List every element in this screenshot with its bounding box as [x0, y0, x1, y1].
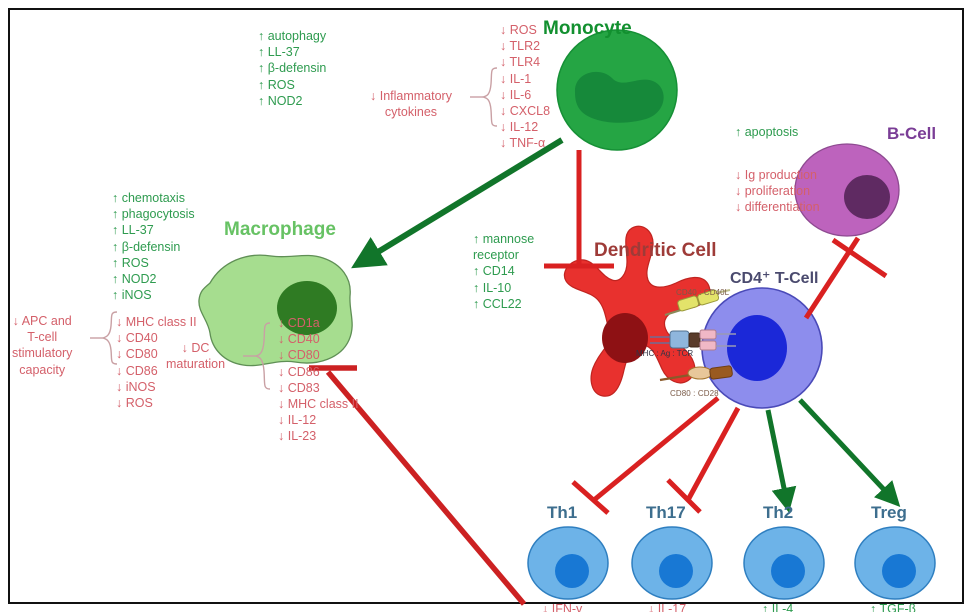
bcell-effects-down: ↓ Ig production ↓ proliferation ↓ differ… [735, 167, 820, 216]
bracket-macrophage-apc [103, 312, 117, 364]
bcell-title: B-Cell [887, 124, 936, 144]
dendritic-effect-mhc2: ↓ MHC class II [278, 396, 359, 412]
subset-th1-title: Th1 [547, 503, 577, 523]
monocyte-cell [557, 30, 677, 150]
dendritic-effect-cd80: ↓ CD80 [278, 347, 359, 363]
bcell-effect-ig-production: ↓ Ig production [735, 167, 820, 183]
subset-treg-cytokine: ↑ TGF-β [870, 601, 916, 612]
dendritic-effect-cd86: ↓ CD86 [278, 364, 359, 380]
subset-th17-title: Th17 [646, 503, 686, 523]
dendritic-effect-cd83: ↓ CD83 [278, 380, 359, 396]
dendritic-effect-cd1a: ↓ CD1a [278, 315, 359, 331]
subset-th17-cell [632, 527, 712, 599]
dendritic-effect-ccl22: ↑ CCL22 [473, 296, 534, 312]
monocyte-effect-il1: ↓ IL-1 [500, 71, 550, 87]
monocyte-effect-nod2: ↑ NOD2 [258, 93, 326, 109]
monocyte-effects-right: ↓ ROS ↓ TLR2 ↓ TLR4 ↓ IL-1 ↓ IL-6 ↓ CXCL… [500, 22, 550, 152]
synapse-label-cd40-cd40l: CD40 : CD40L [676, 288, 729, 297]
macrophage-effect-ros-dn: ↓ ROS [116, 395, 197, 411]
monocyte-effect-tlr2: ↓ TLR2 [500, 38, 550, 54]
dendritic-effect-cd14: ↑ CD14 [473, 263, 534, 279]
subset-th2-cell [744, 527, 824, 599]
macrophage-effect-inos: ↑ iNOS [112, 287, 195, 303]
monocyte-effect-il12: ↓ IL-12 [500, 119, 550, 135]
dendritic-effect-mannose: ↑ mannose [473, 231, 534, 247]
subset-treg-cell [855, 527, 935, 599]
bcell-effects-up: ↑ apoptosis [735, 124, 798, 140]
synapse-label-mhc-ag-tcr: MHC : Ag : TCR [636, 349, 693, 358]
dendritic-group-label: ↓ DC maturation [166, 340, 225, 372]
monocyte-effect-tlr4: ↓ TLR4 [500, 54, 550, 70]
monocyte-effect-cxcl8: ↓ CXCL8 [500, 103, 550, 119]
monocyte-effects-left: ↑ autophagy ↑ LL-37 ↑ β-defensin ↑ ROS ↑… [258, 28, 326, 109]
arrow-tcell-to-treg [800, 400, 890, 496]
tcell-nucleus [727, 315, 787, 381]
macrophage-effect-ll37: ↑ LL-37 [112, 222, 195, 238]
monocyte-effect-il6: ↓ IL-6 [500, 87, 550, 103]
macrophage-effects-up: ↑ chemotaxis ↑ phagocytosis ↑ LL-37 ↑ β-… [112, 190, 195, 303]
inhibit-tcell-to-th1 [573, 398, 718, 513]
bcell-effect-apoptosis: ↑ apoptosis [735, 124, 798, 140]
macrophage-effect-ros: ↑ ROS [112, 255, 195, 271]
monocyte-effect-ll37: ↑ LL-37 [258, 44, 326, 60]
synapse-label-cd80-cd28: CD80 : CD28 [670, 389, 719, 398]
macrophage-group-label: ↓ APC and T-cell stimulatory capacity [12, 313, 72, 378]
tcell-cell [702, 288, 822, 408]
subset-th2-title: Th2 [763, 503, 793, 523]
macrophage-effect-chemotaxis: ↑ chemotaxis [112, 190, 195, 206]
subset-th1-cytokine: ↓ IFN-γ [542, 601, 582, 612]
dendritic-effect-receptor: receptor [473, 247, 534, 263]
monocyte-effect-tnfa: ↓ TNF-α [500, 135, 550, 151]
figure-canvas: Monocyte ↑ autophagy ↑ LL-37 ↑ β-defensi… [0, 0, 974, 612]
tcell-title: CD4⁺ T-Cell [730, 268, 818, 288]
macrophage-effect-beta-defensin: ↑ β-defensin [112, 239, 195, 255]
subset-treg-title: Treg [871, 503, 907, 523]
subset-th2-cytokine: ↑ IL-4 [762, 601, 793, 612]
inhibit-tcell-to-th17 [668, 408, 738, 512]
bcell-nucleus [844, 175, 890, 219]
dendritic-effect-cd40: ↓ CD40 [278, 331, 359, 347]
monocyte-effect-beta-defensin: ↑ β-defensin [258, 60, 326, 76]
dendritic-title: Dendritic Cell [594, 240, 716, 262]
monocyte-group-label: ↓ Inflammatory cytokines [370, 88, 452, 120]
dendritic-effect-il12: ↓ IL-12 [278, 412, 359, 428]
dendritic-effects-up: ↑ mannose receptor ↑ CD14 ↑ IL-10 ↑ CCL2… [473, 231, 534, 312]
monocyte-effect-autophagy: ↑ autophagy [258, 28, 326, 44]
macrophage-effect-nod2: ↑ NOD2 [112, 271, 195, 287]
monocyte-title: Monocyte [543, 18, 632, 40]
macrophage-effect-phagocytosis: ↑ phagocytosis [112, 206, 195, 222]
subset-th17-cytokine: ↓ IL-17 [648, 601, 686, 612]
dendritic-effect-il23: ↓ IL-23 [278, 428, 359, 444]
arrow-tcell-to-th2 [768, 410, 786, 498]
dendritic-effect-il10: ↑ IL-10 [473, 280, 534, 296]
dendritic-effects-down: ↓ CD1a ↓ CD40 ↓ CD80 ↓ CD86 ↓ CD83 ↓ MHC… [278, 315, 359, 445]
bcell-effect-proliferation: ↓ proliferation [735, 183, 820, 199]
monocyte-effect-ros-dn: ↓ ROS [500, 22, 550, 38]
macrophage-effect-inos-dn: ↓ iNOS [116, 379, 197, 395]
macrophage-title: Macrophage [224, 219, 336, 241]
subset-th1-cell [528, 527, 608, 599]
monocyte-effect-ros: ↑ ROS [258, 77, 326, 93]
macrophage-effect-mhc2: ↓ MHC class II [116, 314, 197, 330]
bcell-effect-differentiation: ↓ differentiation [735, 199, 820, 215]
bracket-monocyte-cytokines [483, 68, 497, 126]
